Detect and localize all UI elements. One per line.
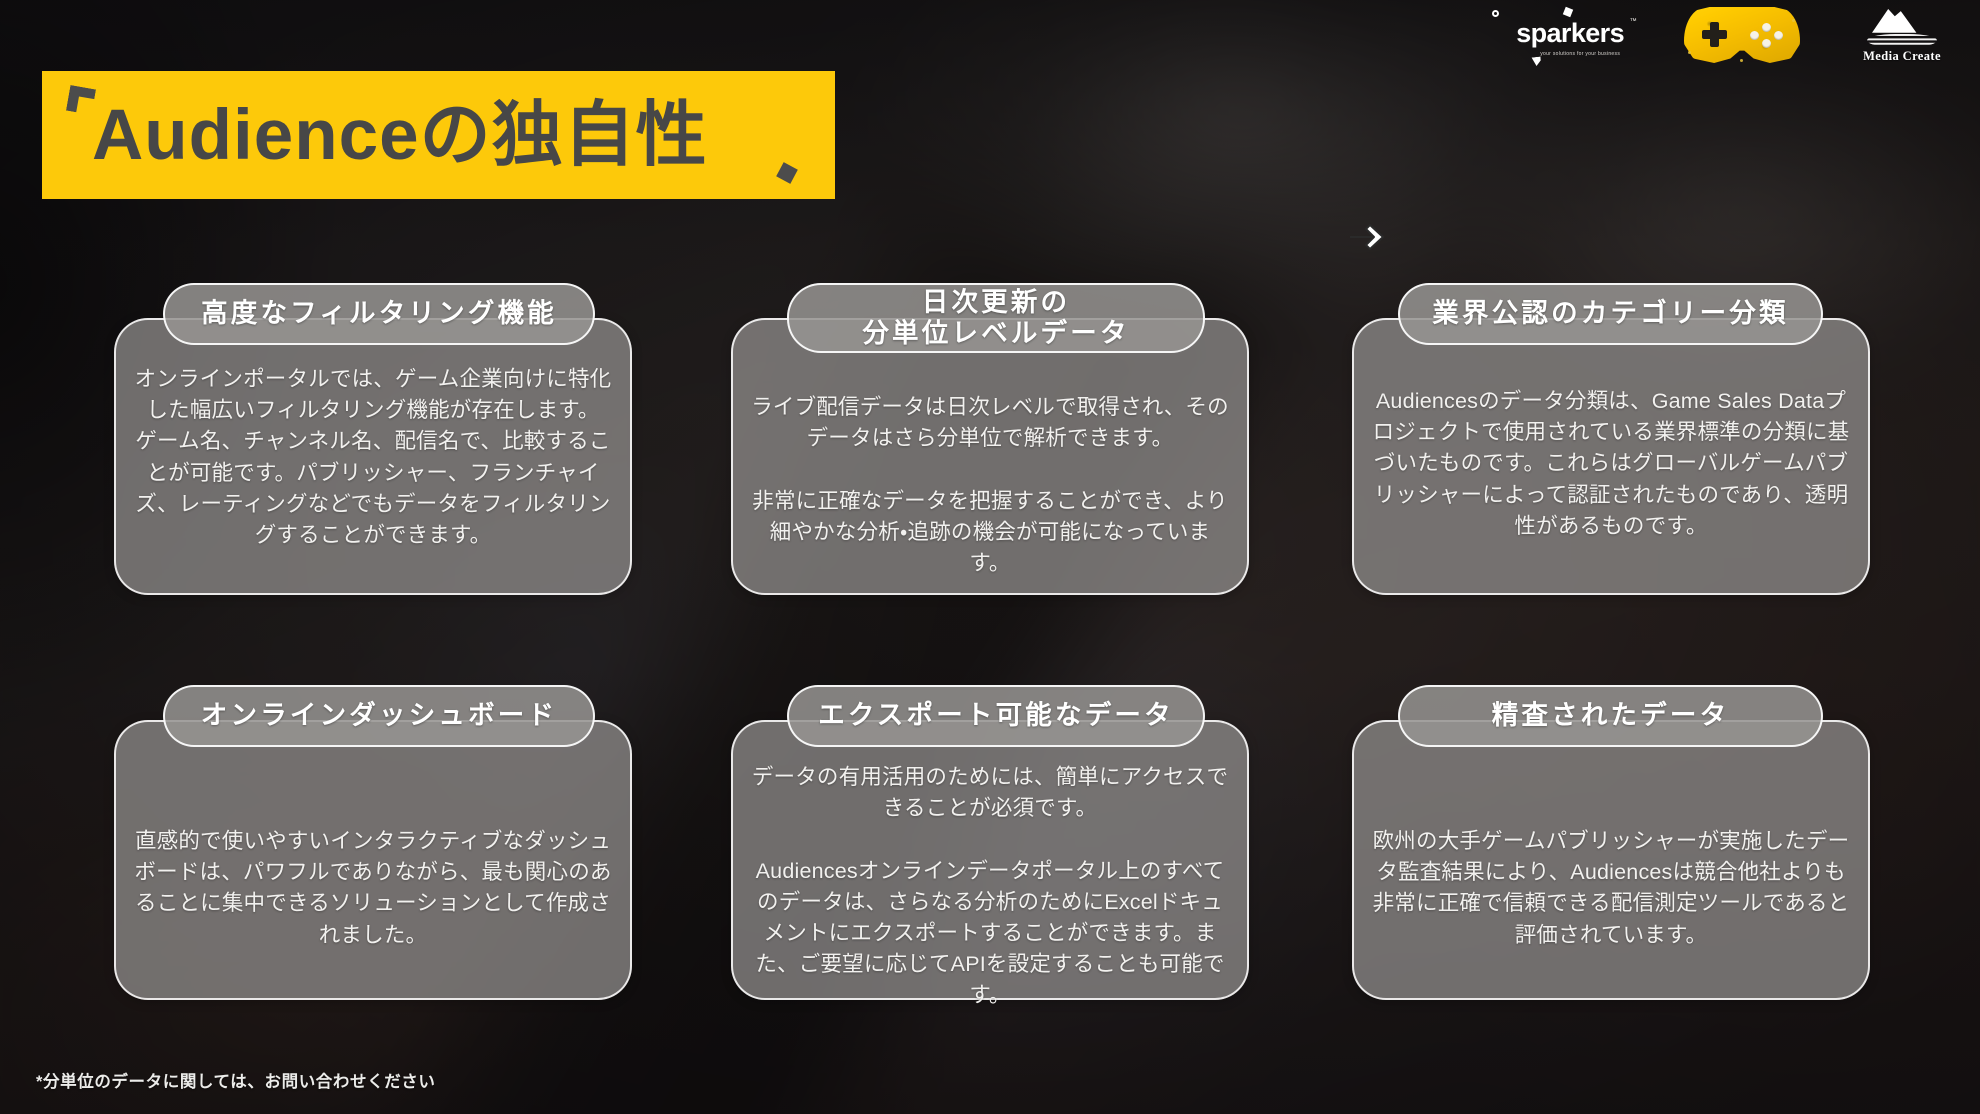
controller-fleck bbox=[1688, 51, 1691, 54]
sparkers-wordmark: sparkers bbox=[1516, 18, 1624, 48]
card-body-text: 欧州の大手ゲームパブリッシャーが実施したデータ監査結果により、Audiences… bbox=[1372, 826, 1850, 951]
logo-row: sparkers ™ your solutions for your busin… bbox=[1502, 6, 1958, 64]
card-header-daily-minute-level-data[interactable]: 日次更新の 分単位レベルデータ bbox=[787, 283, 1205, 353]
card-body-text: ライブ配信データは日次レベルで取得され、そのデータはさら分単位で解析できます。 … bbox=[751, 392, 1229, 579]
card-header-online-dashboard[interactable]: オンラインダッシュボード bbox=[163, 685, 595, 747]
card-header-advanced-filtering[interactable]: 高度なフィルタリング機能 bbox=[163, 283, 595, 345]
page-title: Audienceの独自性 bbox=[42, 100, 708, 171]
controller-fleck bbox=[1740, 59, 1743, 62]
card-heading-text: 日次更新の 分単位レベルデータ bbox=[848, 287, 1143, 350]
right-arrow-cursor-icon bbox=[1348, 222, 1386, 252]
footnote-text: *分単位のデータに関しては、お問い合わせください bbox=[36, 1068, 436, 1092]
card-online-dashboard[interactable]: 直感的で使いやすいインタラクティブなダッシュボードは、パワフルでありながら、最も… bbox=[114, 720, 632, 1000]
card-heading-text: 業界公認のカテゴリー分類 bbox=[1418, 298, 1802, 329]
sparkers-tagline: your solutions for your business bbox=[1540, 52, 1620, 57]
media-create-wordmark: Media Create bbox=[1863, 49, 1941, 64]
controller-button-right bbox=[1774, 31, 1783, 40]
logo-base-icon bbox=[1867, 34, 1937, 47]
card-exportable-data[interactable]: データの有用活用のためには、簡単にアクセスできることが必須です。 Audienc… bbox=[731, 720, 1249, 1000]
controller-button-top bbox=[1762, 23, 1771, 32]
controller-button-bottom bbox=[1762, 39, 1771, 48]
card-header-exportable-data[interactable]: エクスポート可能なデータ bbox=[787, 685, 1205, 747]
corner-diamond-icon bbox=[776, 162, 798, 184]
controller-fleck bbox=[1792, 19, 1795, 22]
card-header-audited-data[interactable]: 精査されたデータ bbox=[1398, 685, 1823, 747]
card-body-text: データの有用活用のためには、簡単にアクセスできることが必須です。 Audienc… bbox=[751, 762, 1229, 1011]
card-industry-approved-categories[interactable]: Audiencesのデータ分類は、Game Sales Dataプロジェクトで使… bbox=[1352, 318, 1870, 595]
card-advanced-filtering[interactable]: オンラインポータルでは、ゲーム企業向けに特化した幅広いフィルタリング機能が存在し… bbox=[114, 318, 632, 595]
controller-button-left bbox=[1750, 31, 1759, 40]
sparkers-logo: sparkers ™ your solutions for your busin… bbox=[1502, 10, 1638, 61]
card-heading-text: エクスポート可能なデータ bbox=[804, 700, 1188, 731]
mountain-icon bbox=[1872, 7, 1932, 33]
slide-canvas: sparkers ™ your solutions for your busin… bbox=[0, 0, 1980, 1114]
media-create-logo: Media Create bbox=[1846, 6, 1958, 64]
game-controller-icon bbox=[1684, 7, 1800, 63]
card-heading-text: 高度なフィルタリング機能 bbox=[187, 298, 571, 329]
spark-square-icon bbox=[1563, 6, 1573, 16]
spark-dot-icon bbox=[1492, 10, 1499, 17]
card-body-text: オンラインポータルでは、ゲーム企業向けに特化した幅広いフィルタリング機能が存在し… bbox=[134, 364, 612, 551]
sparkers-trademark: ™ bbox=[1630, 18, 1636, 25]
card-daily-minute-level-data[interactable]: ライブ配信データは日次レベルで取得され、そのデータはさら分単位で解析できます。 … bbox=[731, 318, 1249, 595]
card-heading-text: 精査されたデータ bbox=[1478, 700, 1744, 731]
card-audited-data[interactable]: 欧州の大手ゲームパブリッシャーが実施したデータ監査結果により、Audiences… bbox=[1352, 720, 1870, 1000]
controller-dpad-horizontal bbox=[1702, 30, 1727, 39]
title-banner: Audienceの独自性 bbox=[42, 71, 835, 199]
card-header-industry-approved-categories[interactable]: 業界公認のカテゴリー分類 bbox=[1398, 283, 1823, 345]
card-heading-text: オンラインダッシュボード bbox=[187, 700, 571, 731]
card-body-text: Audiencesのデータ分類は、Game Sales Dataプロジェクトで使… bbox=[1372, 386, 1850, 542]
card-body-text: 直感的で使いやすいインタラクティブなダッシュボードは、パワフルでありながら、最も… bbox=[134, 826, 612, 951]
